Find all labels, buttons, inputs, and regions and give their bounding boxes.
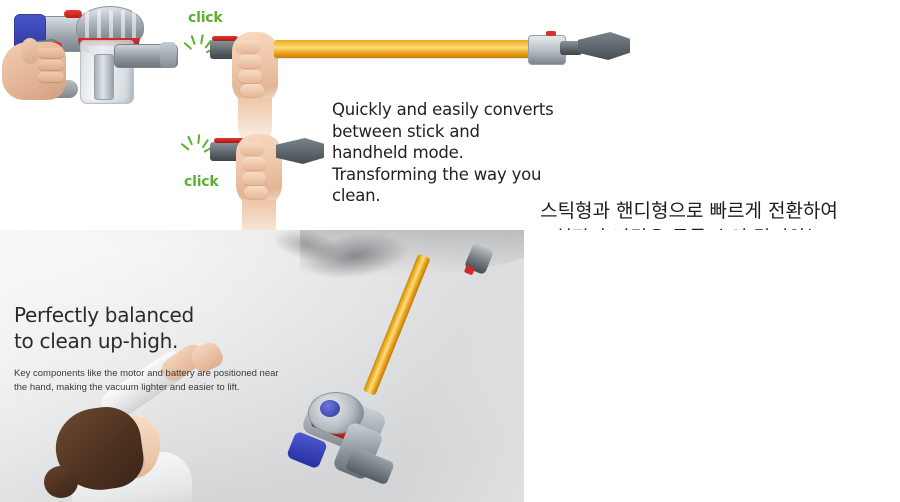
stick-mode-diagram: click [186,10,626,110]
person-hair-bun [44,466,78,498]
click-spark-icon [184,132,212,166]
conversion-feature-section: click [0,0,900,230]
hand-finger [38,60,64,70]
lifestyle-photo: Perfectly balanced to clean up-high. Key… [0,230,524,502]
headline-line-2: to clean up-high. [14,328,194,354]
product-feature-page: click [0,0,900,502]
hand-finger [38,72,64,82]
hand-knuckle [240,84,264,97]
balance-feature-section: Perfectly balanced to clean up-high. Key… [0,230,900,502]
handheld-vacuum-illustration [2,2,178,108]
headline-line-1: Perfectly balanced [14,302,194,328]
copy-line-2: between stick and [332,121,582,143]
hand-knuckle [240,142,264,155]
power-trigger-button [64,10,82,18]
person-figure [16,406,216,502]
hand-knuckle [238,55,262,68]
vacuum-grip [345,447,395,486]
vacuum-wand [363,254,430,396]
hand-thumb [22,38,38,64]
subcopy-line-1: Key components like the motor and batter… [14,367,284,381]
balance-subcopy: Key components like the motor and batter… [14,367,284,395]
copy-line-3: handheld mode. [332,142,582,164]
click-label-handheld: click [184,174,219,190]
hand-knuckle [242,172,266,185]
copy-line-1: Quickly and easily converts [332,99,582,121]
korean-top-line-1: 스틱형과 핸디형으로 빠르게 전환하여 [484,198,894,225]
hand-knuckle [244,186,268,199]
wand-release-button [546,31,556,36]
hand-knuckle [238,70,262,83]
dust-bin-core [94,54,114,100]
crevice-tool-head [276,138,324,164]
extension-wand [274,40,536,58]
stick-vacuum-in-photo [262,240,522,490]
hand-knuckle [236,40,260,53]
gripping-hand [236,134,282,208]
crevice-tool-head [578,32,630,60]
wand-port-cap [160,42,176,68]
cyclone-motor-cap [320,400,340,417]
gripping-hand [232,32,278,106]
hand-finger [38,48,64,58]
click-label-stick: click [188,10,223,26]
handheld-mode-diagram: click [178,126,348,222]
hand-knuckle [242,157,266,170]
balance-headline: Perfectly balanced to clean up-high. [14,302,194,354]
conversion-copy: Quickly and easily converts between stic… [332,99,582,207]
subcopy-line-2: the hand, making the vacuum lighter and … [14,381,284,395]
copy-line-4: Transforming the way you [332,164,582,186]
